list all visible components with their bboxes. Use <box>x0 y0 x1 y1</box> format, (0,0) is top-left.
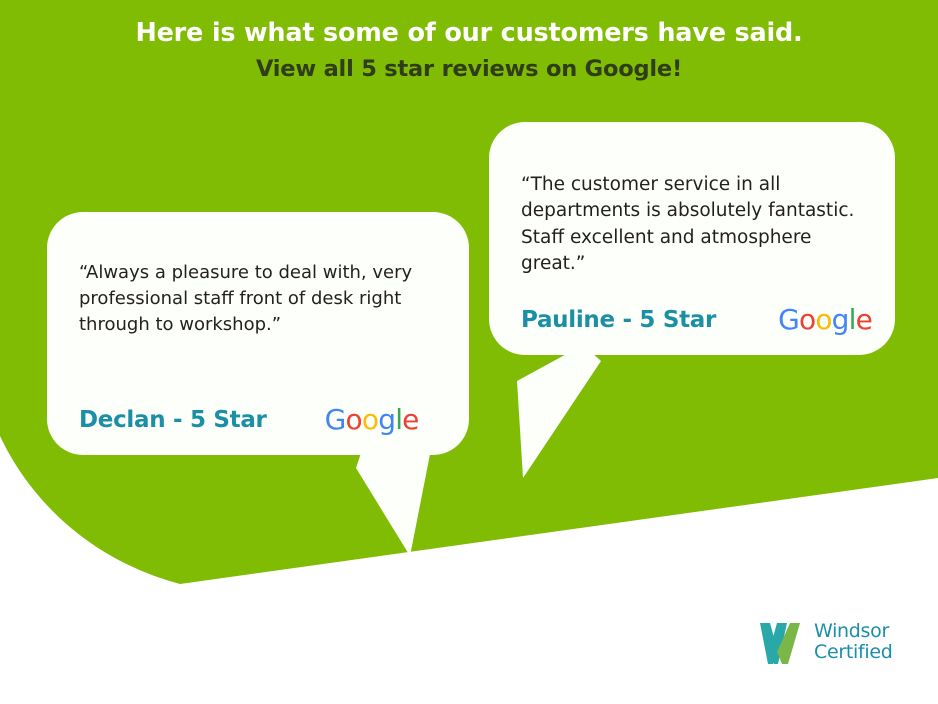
google-letter-g1: G <box>778 303 799 336</box>
google-letter-o1: o <box>799 303 815 336</box>
attribution-declan: Declan - 5 Star Google <box>79 406 429 434</box>
speech-bubble-tail-declan <box>340 444 440 569</box>
google-letter-g2: g <box>378 403 395 436</box>
page-subtitle: View all 5 star reviews on Google! <box>0 55 938 84</box>
review-quote-pauline: “The customer service in all departments… <box>521 172 865 277</box>
review-quote-declan: “Always a pleasure to deal with, very pr… <box>79 260 443 338</box>
speech-bubble-tail-pauline <box>505 345 615 485</box>
attribution-pauline: Pauline - 5 Star Google <box>521 306 871 334</box>
page-title: Here is what some of our customers have … <box>0 18 938 50</box>
google-logo-pauline: Google <box>778 306 872 334</box>
reviewer-name-declan: Declan - 5 Star <box>79 407 267 433</box>
reviewer-name-pauline: Pauline - 5 Star <box>521 307 716 333</box>
google-letter-g2: g <box>832 303 849 336</box>
header-block: Here is what some of our customers have … <box>0 18 938 84</box>
google-letter-e: e <box>856 303 872 336</box>
google-letter-e: e <box>402 403 418 436</box>
google-letter-o2: o <box>815 303 831 336</box>
windsor-certified-logo: Windsor Certified <box>757 619 893 665</box>
brand-name-line2: Certified <box>814 642 893 663</box>
review-graphic-canvas: Here is what some of our customers have … <box>0 0 938 704</box>
brand-name-line1: Windsor <box>814 621 893 642</box>
google-letter-o1: o <box>346 403 362 436</box>
windsor-w-mark-icon <box>757 619 805 665</box>
google-letter-l: l <box>849 303 856 336</box>
google-letter-o2: o <box>362 403 378 436</box>
google-logo-declan: Google <box>325 406 419 434</box>
windsor-wordmark: Windsor Certified <box>814 621 893 662</box>
google-letter-g1: G <box>325 403 346 436</box>
